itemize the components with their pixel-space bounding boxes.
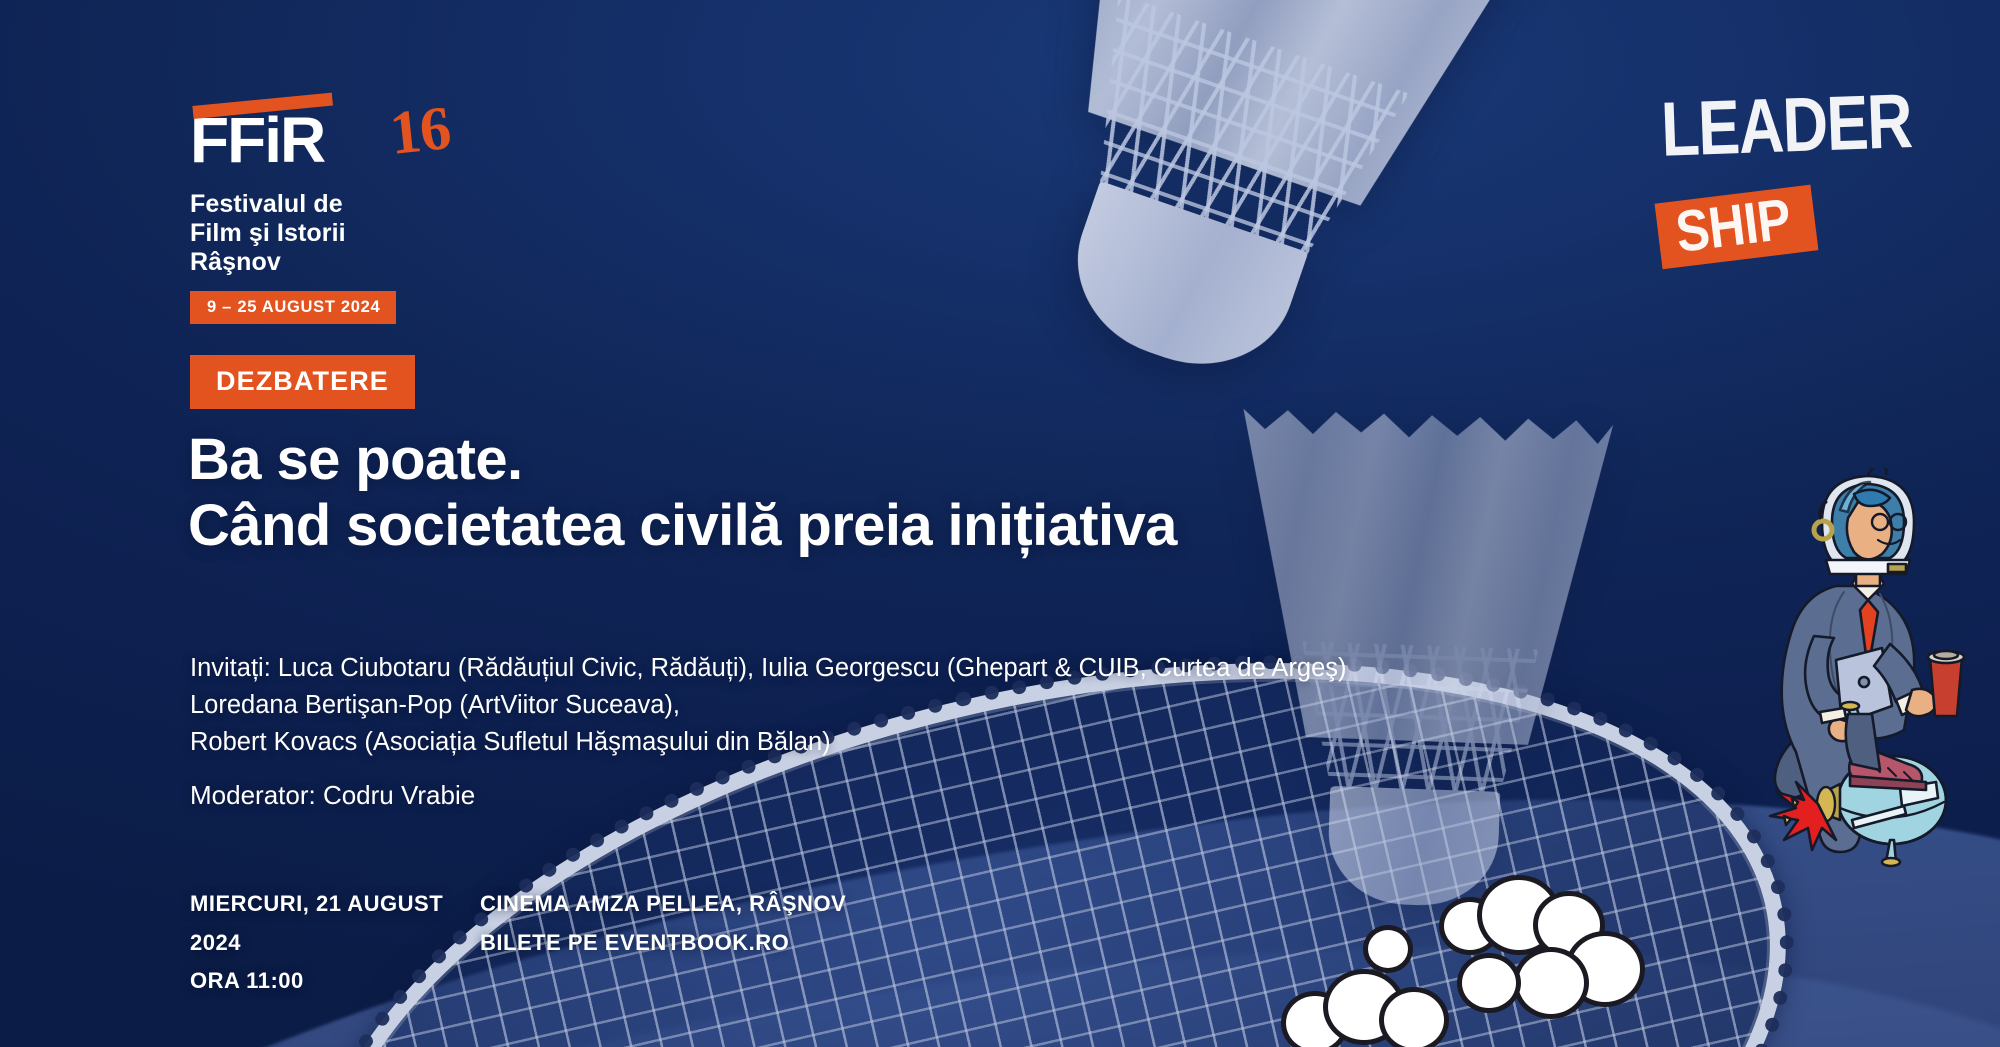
footer-tickets: BILETE PE EVENTBOOK.RO: [480, 924, 1000, 963]
festival-subtitle: Festivalul de Film şi Istorii Râşnov: [190, 190, 520, 277]
festival-acronym: FFiR: [190, 108, 520, 172]
festival-logo-mark: FFiR 16: [190, 108, 520, 180]
festival-subtitle-line-1: Festivalul de: [190, 190, 520, 219]
festival-subtitle-line-2: Film şi Istorii: [190, 219, 520, 248]
footer-time: ORA 11:00: [190, 962, 480, 1001]
event-title-line-1: Ba se poate.: [188, 427, 523, 492]
leadership-ship-badge: SHIP: [1655, 185, 1819, 270]
footer-date: MIERCURI, 21 AUGUST 2024: [190, 885, 480, 962]
event-category-badge: DEZBATERE: [190, 355, 415, 409]
leadership-logo: LEADER SHIP: [1660, 96, 1910, 286]
festival-dates-badge: 9 – 25 AUGUST 2024: [190, 291, 396, 324]
event-title-line-2: Când societatea civilă preia inițiativa: [188, 493, 1177, 559]
festival-edition-number: 16: [386, 93, 453, 170]
footer-venue-column: CINEMA AMZA PELLEA, RÂŞNOV BILETE PE EVE…: [480, 885, 1000, 1001]
footer-venue: CINEMA AMZA PELLEA, RÂŞNOV: [480, 885, 1000, 924]
guest-line: Invitați: Luca Ciubotaru (Rădăuțiul Civi…: [190, 650, 1347, 687]
footer-date-column: MIERCURI, 21 AUGUST 2024 ORA 11:00: [190, 885, 480, 1001]
event-moderator: Moderator: Codru Vrabie: [190, 780, 475, 811]
event-footer: MIERCURI, 21 AUGUST 2024 ORA 11:00 CINEM…: [190, 885, 1000, 1001]
festival-subtitle-line-3: Râşnov: [190, 248, 520, 277]
guest-line: Robert Kovacs (Asociația Sufletul Hăşmaş…: [190, 724, 1347, 761]
leadership-word-leader: LEADER: [1660, 87, 1912, 166]
poster-content-layer: FFiR 16 Festivalul de Film şi Istorii Râ…: [0, 0, 2000, 1047]
festival-logo: FFiR 16 Festivalul de Film şi Istorii Râ…: [190, 108, 520, 324]
event-poster: FFiR 16 Festivalul de Film şi Istorii Râ…: [0, 0, 2000, 1047]
guest-line: Loredana Bertişan-Pop (ArtViitor Suceava…: [190, 687, 1347, 724]
event-guests: Invitați: Luca Ciubotaru (Rădăuțiul Civi…: [190, 650, 1347, 761]
event-title: Ba se poate. Când societatea civilă prei…: [188, 427, 1177, 559]
leadership-word-ship: SHIP: [1673, 190, 1794, 262]
